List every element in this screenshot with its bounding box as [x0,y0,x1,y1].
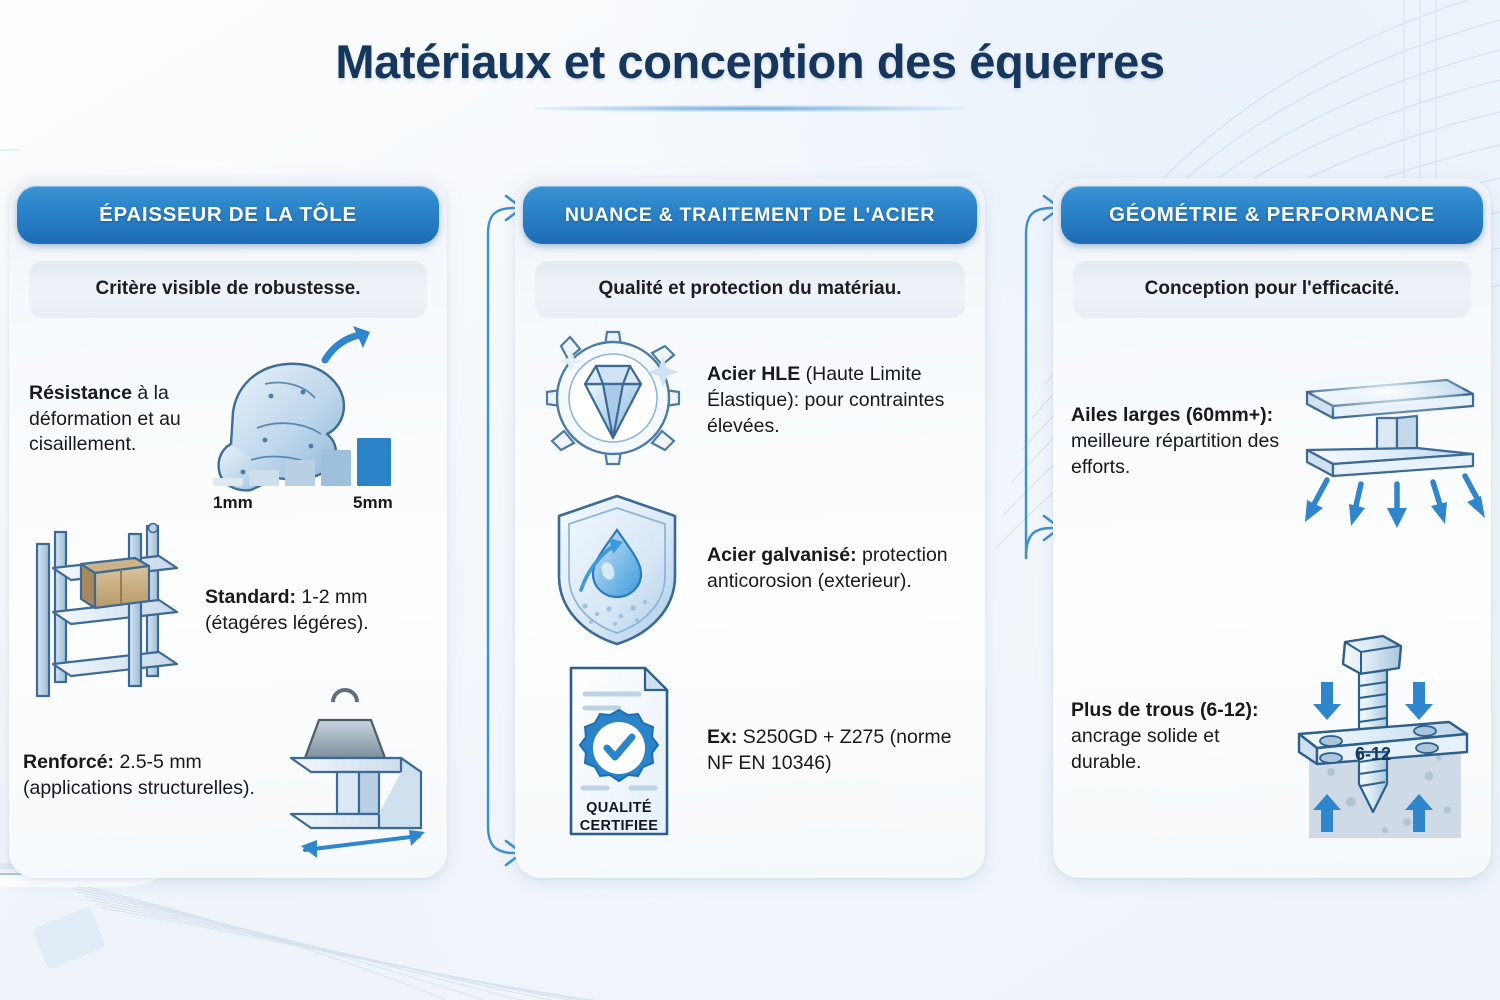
certificate-icon: QUALITÉ CERTIFIEE [541,660,693,842]
flexed-biceps-icon: 1mm 5mm [207,322,407,517]
card-items-nuance: Acier HLE (Haute Limite Élastique): pour… [515,318,985,878]
columns-container: ÉPAISSEUR DE LA TÔLE Critère visible de … [0,178,1500,893]
card-subtitle-geometrie: Conception pour l'efficacité. [1073,260,1471,318]
card-header-geometrie: GÉOMÉTRIE & PERFORMANCE [1061,186,1483,244]
item-strong: Résistance [29,382,132,404]
item-strong: Renforcé: [23,751,114,773]
item-text: Acier HLE (Haute Limite Élastique): pour… [707,362,971,440]
bar-label-max: 5mm [353,493,393,512]
title-underline [535,105,965,112]
list-item[interactable]: Plus de trous (6-12): ancrage solide et … [1071,634,1483,840]
list-item[interactable]: Acier galvanisé: protection anticorosion… [541,488,971,650]
item-strong: Ailes larges (60mm+): [1071,404,1273,426]
card-subtitle-nuance: Qualité et protection du matériau. [535,260,965,318]
i-beam-weight-icon [271,686,441,866]
list-item[interactable]: Ailes larges (60mm+): meilleure répartit… [1071,354,1483,530]
item-rest: S250GD + Z275 (norme NF EN 10346) [707,726,951,774]
title-block: Matériaux et conception des équerres [0,34,1500,112]
list-item[interactable]: Standard: 1-2 mm (étagéres légéres). [25,516,435,706]
card-geometrie-performance[interactable]: GÉOMÉTRIE & PERFORMANCE Conception pour … [1053,178,1491,878]
card-subtitle-label: Critère visible de robustesse. [95,278,360,300]
item-text: Renforcé: 2.5-5 mm (applications structu… [23,750,271,802]
list-item[interactable]: Résistance à la déformation et au cisail… [29,322,429,517]
card-header-label: NUANCE & TRAITEMENT DE L'ACIER [565,204,935,227]
card-items-geometrie: Ailes larges (60mm+): meilleure répartit… [1053,318,1491,878]
card-items-epaisseur: Résistance à la déformation et au cisail… [9,318,447,878]
card-epaisseur-de-la-tole[interactable]: ÉPAISSEUR DE LA TÔLE Critère visible de … [9,178,447,878]
item-strong: Standard: [205,586,296,608]
hole-count-label: 6-12 [1355,744,1391,764]
bar-label-min: 1mm [213,493,253,512]
item-text: Acier galvanisé: protection anticorosion… [707,543,971,595]
item-strong: Acier galvanisé: [707,544,857,566]
item-text: Standard: 1-2 mm (étagéres légéres). [205,585,435,637]
item-text: Résistance à la déformation et au cisail… [29,381,207,459]
certificate-label-line2: CERTIFIEE [580,818,658,834]
page-title: Matériaux et conception des équerres [0,34,1500,89]
card-header-epaisseur: ÉPAISSEUR DE LA TÔLE [17,186,439,244]
list-item[interactable]: QUALITÉ CERTIFIEE Ex: S250GD + Z275 (nor… [541,660,981,842]
list-item[interactable]: Acier HLE (Haute Limite Élastique): pour… [541,326,971,476]
card-subtitle-label: Conception pour l'efficacité. [1145,278,1400,300]
item-strong: Acier HLE [707,363,800,385]
item-strong: Plus de trous (6-12): [1071,699,1258,721]
bolt-anchor-plate-icon: 6-12 [1289,634,1475,840]
card-header-label: GÉOMÉTRIE & PERFORMANCE [1109,203,1435,227]
card-header-label: ÉPAISSEUR DE LA TÔLE [99,203,357,227]
item-strong: Ex: [707,726,737,748]
item-rest: ancrage solide et durable. [1071,725,1220,773]
item-text: Ailes larges (60mm+): meilleure répartit… [1071,403,1293,481]
certificate-label-line1: QUALITÉ [586,799,652,816]
diamond-gear-icon [541,326,693,476]
item-text: Plus de trous (6-12): ancrage solide et … [1071,698,1289,776]
list-item[interactable]: Renforcé: 2.5-5 mm (applications structu… [23,686,441,866]
card-nuance-traitement-acier[interactable]: NUANCE & TRAITEMENT DE L'ACIER Qualité e… [515,178,985,878]
item-rest: meilleure répartition des efforts. [1071,430,1279,478]
shield-water-drop-icon [541,488,693,650]
shelving-rack-icon [25,516,193,706]
card-header-nuance: NUANCE & TRAITEMENT DE L'ACIER [523,186,977,244]
item-text: Ex: S250GD + Z275 (norme NF EN 10346) [707,725,981,777]
i-beam-load-spread-icon [1293,354,1483,530]
card-subtitle-epaisseur: Critère visible de robustesse. [29,260,427,318]
card-subtitle-label: Qualité et protection du matériau. [599,278,902,300]
